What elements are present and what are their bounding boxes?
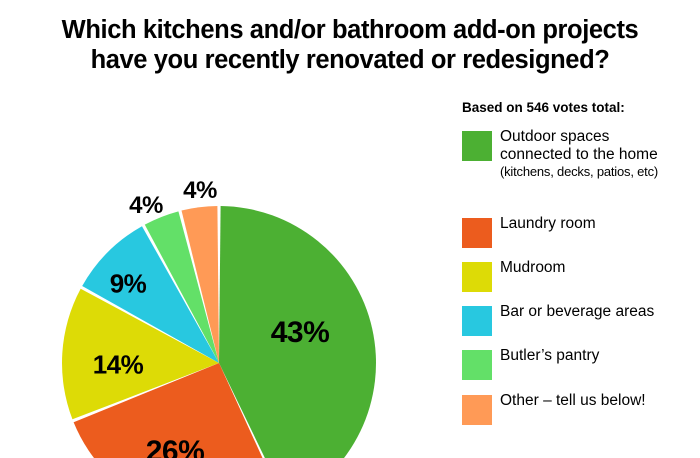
legend-item-label: Mudroom — [500, 259, 700, 277]
page-title: Which kitchens and/or bathroom add-on pr… — [0, 16, 700, 75]
pie-slice-value-label: 9% — [110, 269, 147, 300]
legend-item-label: Other – tell us below! — [500, 392, 700, 410]
legend-item-label: Butler’s pantry — [500, 347, 700, 365]
pie-slice-value-label: 43% — [271, 316, 330, 350]
pie-chart: 43%26%14%9%4%4% — [0, 88, 440, 458]
legend-header: Based on 546 votes total: — [462, 100, 625, 115]
legend-item-label: Bar or beverage areas — [500, 303, 700, 321]
legend: Based on 546 votes total: Outdoor spaces… — [459, 100, 700, 445]
pie-chart-infographic: Which kitchens and/or bathroom add-on pr… — [0, 0, 700, 458]
legend-color-swatch — [462, 262, 492, 292]
legend-color-swatch — [462, 218, 492, 248]
pie-slice-value-label: 26% — [146, 435, 205, 458]
legend-color-swatch — [462, 395, 492, 425]
legend-item-label: Outdoor spaces connected to the home(kit… — [500, 128, 700, 180]
legend-color-swatch — [462, 131, 492, 161]
pie-slice-value-label: 4% — [183, 177, 217, 205]
legend-color-swatch — [462, 306, 492, 336]
pie-chart-svg — [0, 88, 440, 458]
legend-item-sublabel: (kitchens, decks, patios, etc) — [500, 164, 700, 180]
pie-slice-value-label: 14% — [93, 350, 144, 381]
legend-color-swatch — [462, 350, 492, 380]
pie-slice-value-label: 4% — [129, 192, 163, 220]
legend-item-label: Laundry room — [500, 215, 700, 233]
